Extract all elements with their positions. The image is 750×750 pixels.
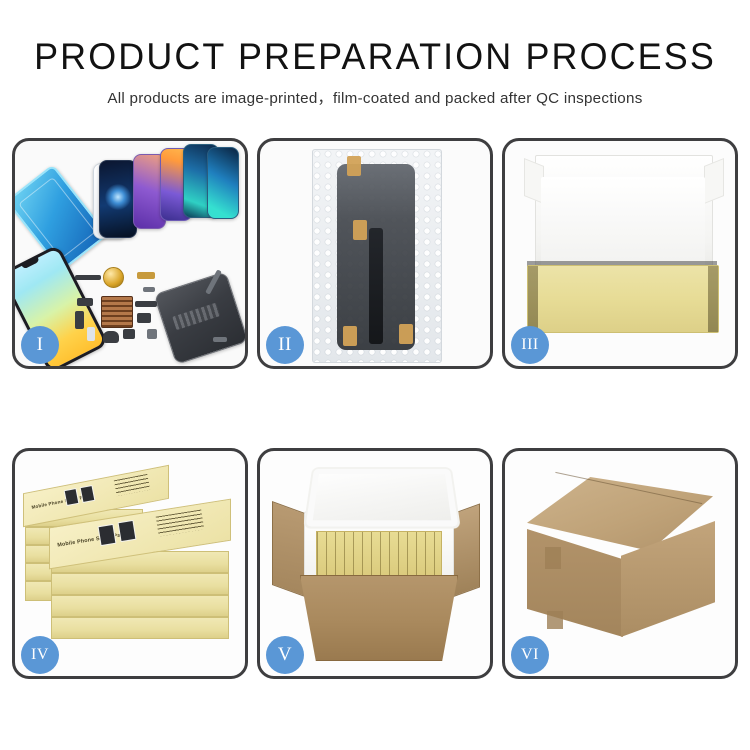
- step-panel-1: I: [12, 138, 248, 369]
- tape-piece: [353, 220, 367, 240]
- box-label-image: [64, 488, 80, 506]
- spare-part: [137, 313, 151, 323]
- step-panel-6: VI: [502, 448, 738, 679]
- spare-part: [103, 331, 119, 343]
- step-panel-3: III: [502, 138, 738, 369]
- step-panel-5: V: [257, 448, 493, 679]
- spare-part: [75, 275, 101, 280]
- foam-sheet: [541, 177, 705, 267]
- process-steps-grid: I II III: [12, 138, 738, 679]
- step-panel-2: II: [257, 138, 493, 369]
- carton-body: [300, 575, 458, 661]
- tape-piece: [347, 156, 361, 176]
- carton-left-face: [527, 529, 623, 637]
- phone-screen-dark: [99, 160, 137, 238]
- step-badge-4: IV: [21, 636, 59, 674]
- taptic-engine-part: [103, 267, 124, 288]
- stacked-box: [51, 595, 229, 617]
- foam-cooler-lid: [303, 467, 461, 528]
- stacked-box: [51, 617, 229, 639]
- spare-part: [135, 301, 157, 307]
- spare-part: [137, 272, 155, 279]
- bubble-wrap-bag: [312, 149, 442, 363]
- tape-piece: [399, 324, 413, 344]
- spare-part: [123, 329, 135, 339]
- spare-part: [213, 337, 227, 342]
- page-header: PRODUCT PREPARATION PROCESS All products…: [0, 0, 750, 108]
- spare-part: [77, 298, 93, 306]
- phone-blue-back: [207, 147, 239, 219]
- step-badge-5: V: [266, 636, 304, 674]
- box-label-image: [98, 524, 117, 546]
- step-panel-4: Mobile Phone Spare Parts Mobile Phone Sp…: [12, 448, 248, 679]
- spare-part: [87, 327, 95, 341]
- step-badge-1: I: [21, 326, 59, 364]
- step-badge-2: II: [266, 326, 304, 364]
- box-label-image: [118, 520, 137, 542]
- logic-board-chip: [101, 296, 133, 328]
- box-label-image: [80, 485, 96, 503]
- stacked-box: [51, 573, 229, 595]
- page-title: PRODUCT PREPARATION PROCESS: [11, 38, 739, 77]
- carton-tape-upper: [545, 547, 561, 569]
- yellow-box-base: [527, 265, 719, 333]
- spare-part: [147, 329, 157, 339]
- tape-piece: [343, 326, 357, 346]
- flex-cable: [369, 228, 383, 344]
- spare-part: [143, 287, 155, 292]
- spare-part: [75, 311, 84, 329]
- phone-back-housing: [153, 271, 245, 365]
- carton-tape-lower: [547, 611, 563, 629]
- page-subtitle: All products are image-printed，film-coat…: [0, 86, 750, 108]
- step-badge-6: VI: [511, 636, 549, 674]
- step-badge-3: III: [511, 326, 549, 364]
